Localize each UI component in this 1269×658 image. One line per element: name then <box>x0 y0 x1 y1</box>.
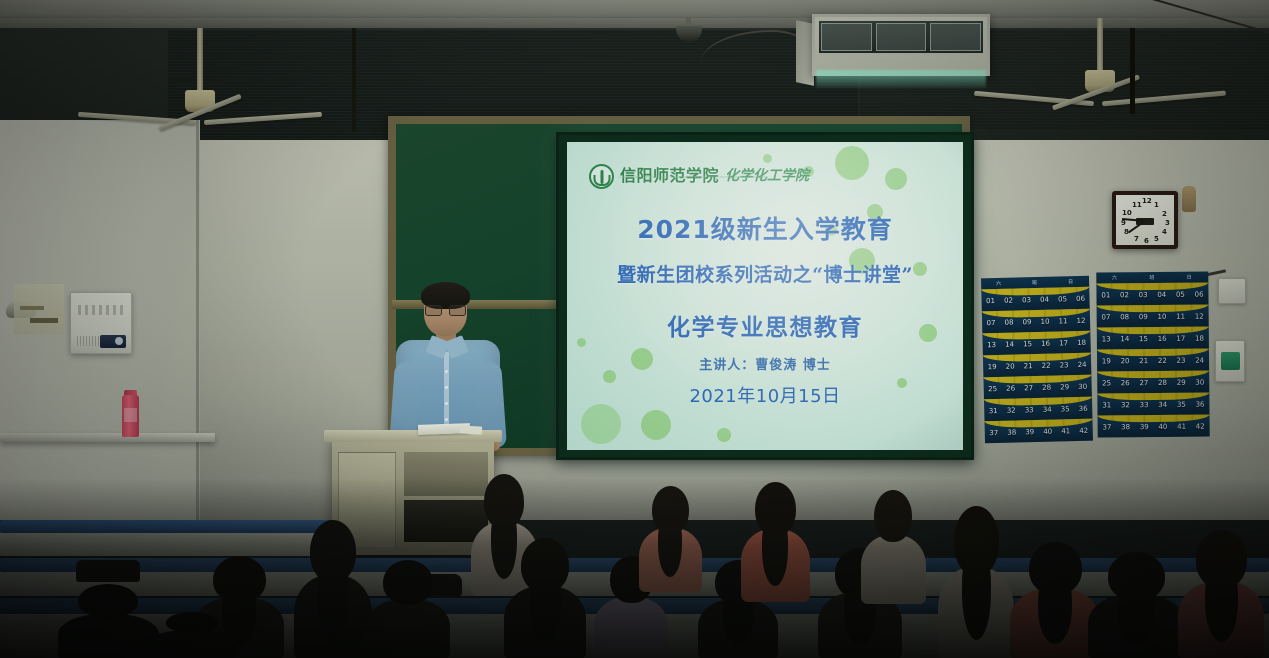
audience-member <box>506 538 584 658</box>
audience-member-torso <box>148 630 236 658</box>
audience-member-head <box>1029 542 1082 595</box>
audience-member <box>150 612 234 658</box>
audience-member <box>862 490 924 602</box>
audience-member-head <box>213 556 266 603</box>
audience-member-head <box>521 538 569 593</box>
audience-member-torso <box>58 614 159 658</box>
audience-member <box>1012 542 1098 658</box>
audience-member-head <box>1196 530 1247 589</box>
audience-member-head <box>755 482 796 536</box>
audience-member <box>60 584 156 658</box>
lecture-hall-screenshot: 信阳师范学院 化学化工学院 College of Chemistry and C… <box>0 0 1269 658</box>
audience-member <box>742 482 808 600</box>
audience-member <box>940 506 1012 658</box>
audience-member-torso <box>366 599 450 658</box>
audience-member <box>296 520 370 658</box>
audience-member-head <box>874 490 912 542</box>
audience <box>0 0 1269 658</box>
audience-member-torso <box>861 535 926 604</box>
audience-member-head <box>484 474 524 529</box>
audience-member-torso <box>594 597 668 658</box>
audience-member-head <box>652 486 689 534</box>
audience-member-head <box>954 506 999 576</box>
audience-member <box>640 486 700 590</box>
audience-member <box>1180 530 1262 658</box>
audience-member <box>368 560 448 658</box>
audience-member-head <box>383 560 433 605</box>
audience-member-head <box>166 612 218 633</box>
audience-member-head <box>78 584 138 618</box>
audience-member-head <box>1108 552 1165 601</box>
audience-member <box>1090 552 1182 658</box>
audience-member-head <box>310 520 356 583</box>
